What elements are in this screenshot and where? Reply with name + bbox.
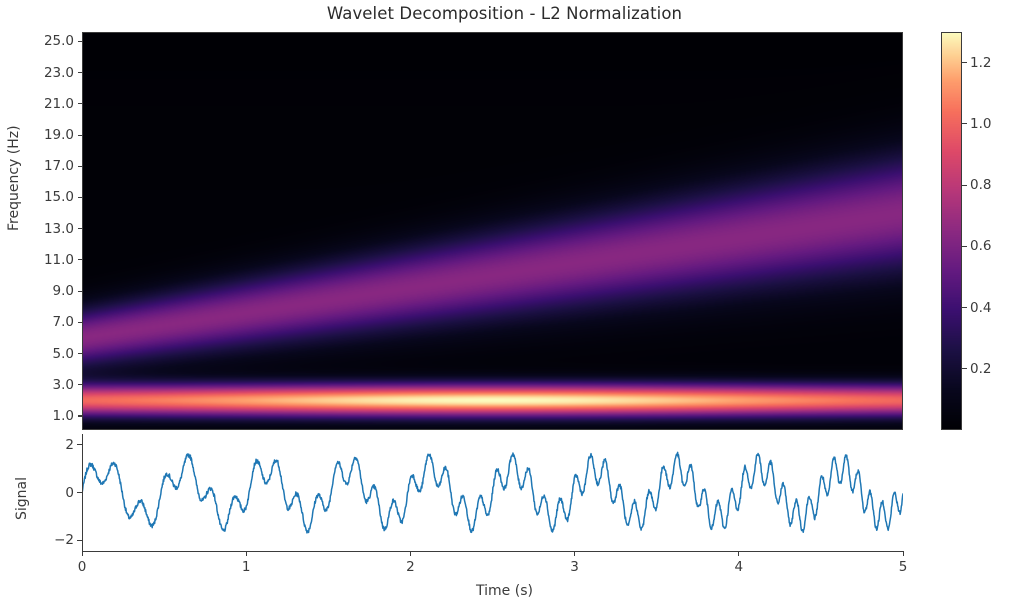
scalogram-y-tick-label: 1.0	[34, 408, 74, 424]
scalogram-y-tick-mark	[78, 415, 83, 416]
scalogram-y-tick-label: 11.0	[34, 252, 74, 268]
colorbar-tick-mark	[962, 123, 967, 124]
x-tick-mark	[574, 552, 575, 557]
signal-y-axis-label: Signal	[14, 477, 30, 520]
scalogram-y-tick-mark	[78, 197, 83, 198]
scalogram-y-tick-mark	[78, 166, 83, 167]
scalogram-y-tick-mark	[78, 103, 83, 104]
signal-y-tick-label: −2	[34, 532, 74, 548]
x-axis-label: Time (s)	[0, 583, 1009, 599]
signal-plot-area	[82, 434, 903, 551]
colorbar-tick-label: 1.2	[970, 55, 991, 71]
x-tick-label: 2	[406, 559, 415, 575]
signal-y-tick-mark	[77, 492, 82, 493]
x-tick-label: 1	[242, 559, 251, 575]
signal-bottom-spine	[82, 551, 904, 552]
colorbar-tick-label: 0.8	[970, 177, 991, 193]
x-tick-mark	[410, 552, 411, 557]
signal-waveform	[82, 434, 903, 551]
scalogram-y-tick-label: 25.0	[34, 33, 74, 49]
x-tick-mark	[82, 552, 83, 557]
x-tick-label: 5	[899, 559, 908, 575]
scalogram-y-tick-mark	[78, 41, 83, 42]
figure-canvas: Wavelet Decomposition - L2 Normalization…	[0, 0, 1009, 611]
scalogram-y-tick-mark	[78, 353, 83, 354]
scalogram-y-tick-label: 9.0	[34, 283, 74, 299]
signal-left-spine	[82, 434, 83, 552]
scalogram-heatmap	[82, 32, 903, 430]
scalogram-y-axis-label: Frequency (Hz)	[6, 125, 22, 231]
colorbar-tick-mark	[962, 62, 967, 63]
x-tick-mark	[246, 552, 247, 557]
colorbar-tick-label: 0.4	[970, 300, 991, 316]
scalogram-y-tick-label: 23.0	[34, 65, 74, 81]
scalogram-y-tick-mark	[78, 291, 83, 292]
signal-y-tick-mark	[77, 540, 82, 541]
figure-title: Wavelet Decomposition - L2 Normalization	[0, 4, 1009, 23]
colorbar-tick-mark	[962, 246, 967, 247]
colorbar-tick-mark	[962, 368, 967, 369]
signal-y-tick-label: 0	[34, 485, 74, 501]
colorbar-tick-mark	[962, 185, 967, 186]
scalogram-y-tick-label: 7.0	[34, 314, 74, 330]
x-tick-label: 3	[570, 559, 579, 575]
signal-trace	[82, 452, 903, 533]
scalogram-y-tick-mark	[78, 72, 83, 73]
scalogram-y-tick-mark	[78, 259, 83, 260]
scalogram-plot-area	[82, 32, 903, 430]
colorbar	[941, 32, 962, 430]
scalogram-y-tick-mark	[78, 384, 83, 385]
x-tick-mark	[738, 552, 739, 557]
x-tick-label: 0	[78, 559, 87, 575]
colorbar-tick-mark	[962, 307, 967, 308]
scalogram-y-tick-label: 13.0	[34, 221, 74, 237]
x-tick-mark	[903, 552, 904, 557]
colorbar-tick-label: 1.0	[970, 116, 991, 132]
colorbar-tick-label: 0.2	[970, 361, 991, 377]
scalogram-y-tick-label: 15.0	[34, 189, 74, 205]
signal-y-tick-label: 2	[34, 437, 74, 453]
x-tick-label: 4	[735, 559, 744, 575]
scalogram-y-tick-mark	[78, 228, 83, 229]
scalogram-y-tick-label: 19.0	[34, 127, 74, 143]
signal-y-tick-mark	[77, 444, 82, 445]
colorbar-tick-label: 0.6	[970, 238, 991, 254]
scalogram-y-tick-label: 17.0	[34, 158, 74, 174]
scalogram-y-tick-label: 5.0	[34, 346, 74, 362]
scalogram-y-tick-label: 21.0	[34, 96, 74, 112]
colorbar-gradient	[941, 32, 962, 430]
scalogram-y-tick-mark	[78, 135, 83, 136]
scalogram-y-tick-label: 3.0	[34, 377, 74, 393]
scalogram-y-tick-mark	[78, 322, 83, 323]
